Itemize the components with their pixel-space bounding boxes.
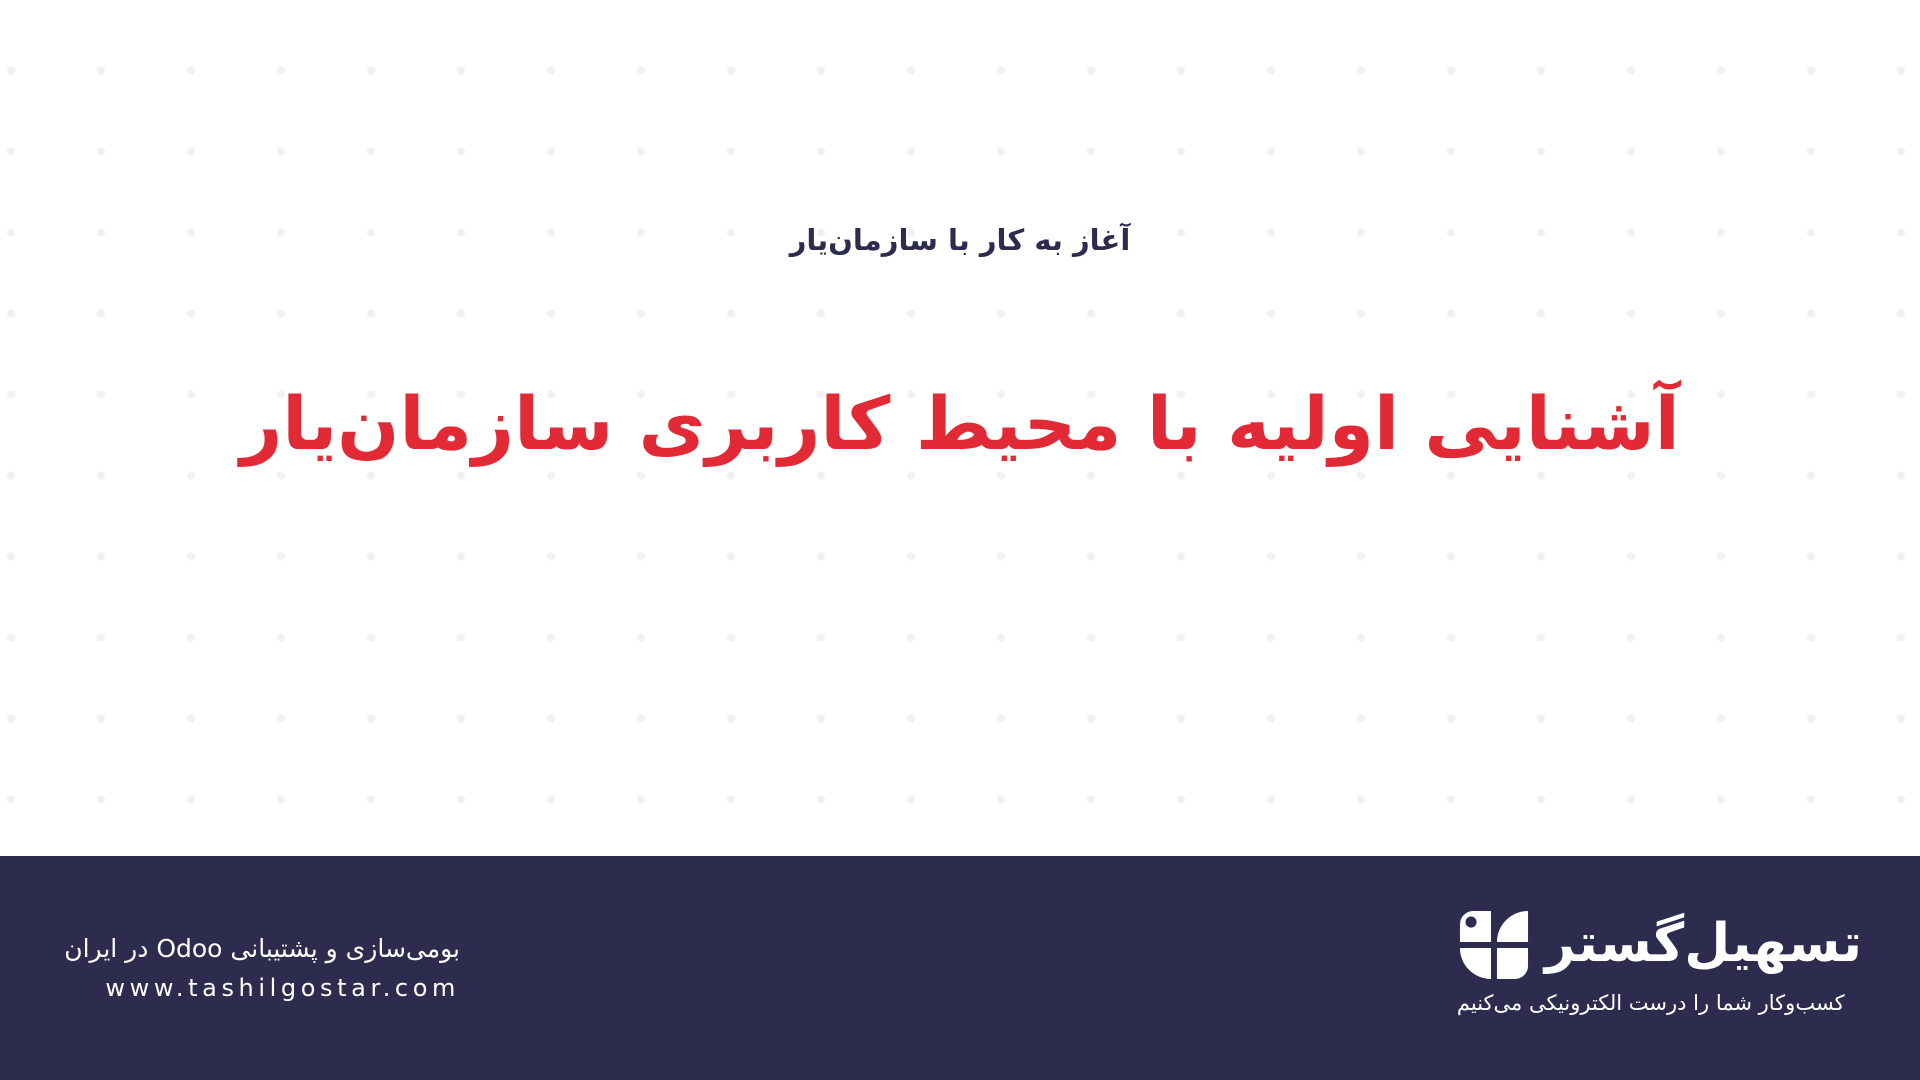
brand-wordmark: تسهیل‌گستر bbox=[1545, 917, 1862, 974]
slide-eyebrow-text: آغاز به کار با سازمان‌یار bbox=[0, 222, 1920, 260]
footer-info-block: بومی‌سازی و پشتیبانی Odoo در ایران www.t… bbox=[60, 932, 460, 1002]
footer-tagline: بومی‌سازی و پشتیبانی Odoo در ایران bbox=[60, 932, 460, 966]
footer-website-url[interactable]: www.tashilgostar.com bbox=[60, 974, 460, 1002]
brand-logo-lockup[interactable]: تسهیل‌گستر کسب‌وکار شما را درست الکترونی… bbox=[1457, 908, 1862, 1016]
slide-headline: آشنایی اولیه با محیط کاربری سازمان‌یار bbox=[0, 382, 1920, 468]
presentation-slide: آغاز به کار با سازمان‌یار آشنایی اولیه ب… bbox=[0, 0, 1920, 1080]
slide-footer-bar: بومی‌سازی و پشتیبانی Odoo در ایران www.t… bbox=[0, 856, 1920, 1080]
brand-slogan: کسب‌وکار شما را درست الکترونیکی می‌کنیم bbox=[1457, 991, 1845, 1016]
logo-row: تسهیل‌گستر bbox=[1457, 908, 1862, 982]
tashilgostar-petal-grid-logo-icon bbox=[1457, 908, 1531, 982]
slide-content-area: آغاز به کار با سازمان‌یار آشنایی اولیه ب… bbox=[0, 0, 1920, 856]
